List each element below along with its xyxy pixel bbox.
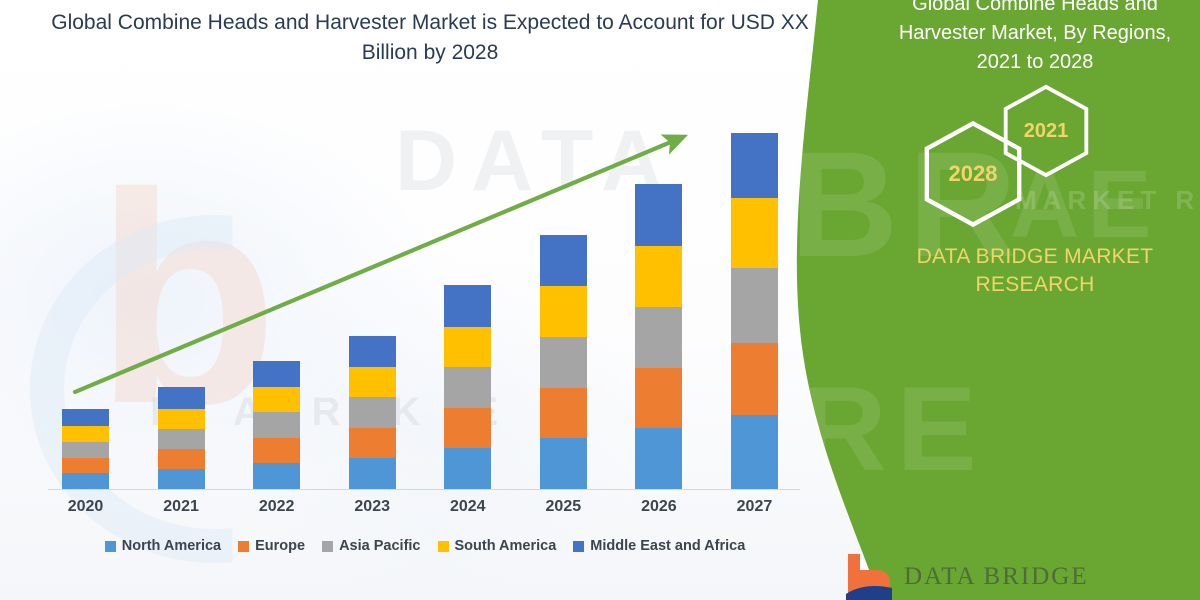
green-panel-title: Global Combine Heads and Harvester Marke… [870,0,1200,77]
bar-segment[interactable] [349,336,396,367]
legend-item[interactable]: Middle East and Africa [573,538,745,554]
legend-label: Europe [255,538,305,554]
bar-segment[interactable] [158,387,205,409]
hexagon-2021-label: 2021 [1024,120,1069,143]
data-bridge-b-mark-icon [840,552,894,600]
bar-segment[interactable] [253,361,300,387]
bar-segment[interactable] [444,285,491,326]
infographic-canvas: b DATA M A R K E T Global Combine Heads … [0,0,1200,600]
bar-segment[interactable] [253,438,300,463]
bar-segment[interactable] [158,429,205,449]
bar-segment[interactable] [731,198,778,268]
bar-segment[interactable] [158,409,205,429]
legend-swatch-icon [573,541,584,552]
legend-swatch-icon [438,541,449,552]
bar-segment[interactable] [731,268,778,342]
bar-column-2022[interactable] [253,361,300,489]
bar-segment[interactable] [158,469,205,489]
bar-segment[interactable] [540,388,587,438]
bar-column-2020[interactable] [62,409,109,489]
legend-swatch-icon [105,541,116,552]
bar-segment[interactable] [540,235,587,286]
chart-plot-area [40,100,800,490]
legend-item[interactable]: South America [438,538,557,554]
bar-segment[interactable] [253,387,300,412]
bar-segment[interactable] [444,367,491,408]
hexagon-2021: 2021 [998,83,1094,179]
x-axis-label-2025: 2025 [540,498,587,516]
data-bridge-logo: DATA BRIDGE [840,552,1180,600]
legend-item[interactable]: Europe [238,538,305,554]
x-axis-line [48,489,800,490]
bar-segment[interactable] [253,412,300,438]
legend-label: South America [455,538,557,554]
bar-segment[interactable] [253,463,300,489]
bar-segment[interactable] [349,367,396,397]
bar-segment[interactable] [62,458,109,473]
bar-segment[interactable] [444,408,491,448]
bar-segment[interactable] [731,343,778,415]
legend-label: Asia Pacific [339,538,420,554]
bar-segment[interactable] [731,415,778,489]
bar-column-2026[interactable] [635,184,682,489]
bar-segment[interactable] [635,428,682,489]
bar-segment[interactable] [444,448,491,489]
bar-column-2023[interactable] [349,336,396,489]
x-axis-label-2022: 2022 [253,498,300,516]
bar-segment[interactable] [62,442,109,458]
stacked-bar-group [40,100,800,489]
bar-column-2025[interactable] [540,235,587,489]
legend-item[interactable]: North America [105,538,221,554]
x-axis-label-2020: 2020 [62,498,109,516]
bar-segment[interactable] [540,438,587,489]
hexagon-2028-label: 2028 [949,161,998,187]
bar-segment[interactable] [540,337,587,388]
x-axis-label-2023: 2023 [349,498,396,516]
legend-swatch-icon [238,541,249,552]
bar-segment[interactable] [349,458,396,489]
bar-segment[interactable] [62,473,109,489]
legend-label: Middle East and Africa [590,538,745,554]
x-axis-label-2024: 2024 [444,498,491,516]
hexagon-group: 2028 2021 [870,91,1200,221]
legend-item[interactable]: Asia Pacific [322,538,420,554]
legend-label: North America [122,538,221,554]
bar-segment[interactable] [540,286,587,336]
x-axis-labels: 20202021202220232024202520262027 [40,498,800,516]
legend-swatch-icon [322,541,333,552]
page-title: Global Combine Heads and Harvester Marke… [40,8,820,68]
chart-legend: North AmericaEuropeAsia PacificSouth Ame… [40,538,810,554]
bar-segment[interactable] [635,307,682,368]
bar-segment[interactable] [635,368,682,428]
brand-name: DATA BRIDGE MARKET RESEARCH [870,243,1200,300]
bar-segment[interactable] [349,428,396,458]
bar-segment[interactable] [444,327,491,367]
bar-column-2021[interactable] [158,387,205,489]
bar-segment[interactable] [635,184,682,246]
x-axis-label-2021: 2021 [158,498,205,516]
x-axis-label-2027: 2027 [731,498,778,516]
bar-segment[interactable] [635,246,682,306]
bar-segment[interactable] [62,409,109,426]
green-panel-content: Global Combine Heads and Harvester Marke… [870,0,1200,600]
bar-segment[interactable] [349,397,396,428]
bar-segment[interactable] [731,133,778,198]
bar-segment[interactable] [62,426,109,442]
bar-column-2024[interactable] [444,285,491,489]
x-axis-label-2026: 2026 [635,498,682,516]
bar-segment[interactable] [158,449,205,469]
data-bridge-logo-text: DATA BRIDGE [904,564,1089,589]
bar-column-2027[interactable] [731,133,778,489]
